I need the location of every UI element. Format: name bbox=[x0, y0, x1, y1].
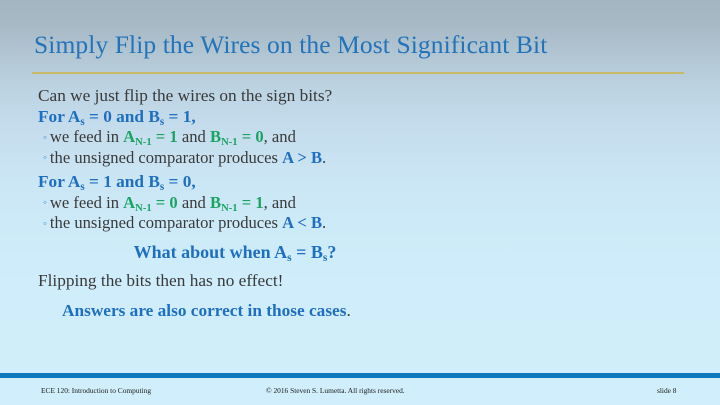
case2-b1-b: B bbox=[210, 193, 221, 212]
footer-slide-number: slide 8 bbox=[657, 386, 677, 395]
title-underline-rule bbox=[32, 72, 684, 74]
case2-bullet-1: ◦we feed in AN-1 = 0 and BN-1 = 1, and bbox=[0, 193, 720, 214]
question-mid: = B bbox=[292, 242, 323, 262]
footer-divider-bar bbox=[0, 373, 720, 378]
case1-b1-a-val: = 1 bbox=[152, 127, 178, 146]
case2-b2-tail: . bbox=[322, 213, 326, 232]
case1-b1-pre: we feed in bbox=[50, 127, 123, 146]
bullet-icon: ◦ bbox=[43, 132, 47, 144]
case2-b1-pre: we feed in bbox=[50, 193, 123, 212]
case2-head-end: = 0, bbox=[164, 172, 195, 191]
case1-b2-result: A > B bbox=[282, 148, 322, 167]
case1-b1-tail: , and bbox=[264, 127, 296, 146]
footer-course-label: ECE 120: Introduction to Computing bbox=[41, 386, 151, 395]
case2-b2-result: A < B bbox=[282, 213, 322, 232]
case1-head-end: = 1, bbox=[164, 107, 195, 126]
bullet-icon: ◦ bbox=[43, 197, 47, 209]
case1-head-for: For A bbox=[38, 107, 80, 126]
case1-b1-b-sub: N-1 bbox=[221, 137, 238, 148]
question-end: ? bbox=[327, 242, 336, 262]
case2-b2-pre: the unsigned comparator produces bbox=[50, 213, 282, 232]
footer-copyright-label: © 2016 Steven S. Lumetta. All rights res… bbox=[266, 386, 405, 395]
question-pre: What about when A bbox=[134, 242, 288, 262]
intro-line: Can we just flip the wires on the sign b… bbox=[0, 86, 720, 107]
case2-b1-a-val: = 0 bbox=[152, 193, 178, 212]
case2-b1-a: A bbox=[123, 193, 135, 212]
answer-text: Answers are also correct in those cases bbox=[62, 301, 346, 320]
answer-line: Answers are also correct in those cases. bbox=[0, 301, 720, 322]
case2-heading: For As = 1 and Bs = 0, bbox=[0, 172, 720, 193]
case1-bullet-2: ◦the unsigned comparator produces A > B. bbox=[0, 148, 720, 169]
case2-b1-b-sub: N-1 bbox=[221, 202, 238, 213]
case2-b1-tail: , and bbox=[264, 193, 296, 212]
bullet-icon: ◦ bbox=[43, 218, 47, 230]
case1-b1-and: and bbox=[178, 127, 210, 146]
case2-head-mid: = 1 and B bbox=[85, 172, 160, 191]
case1-bullet-1: ◦we feed in AN-1 = 1 and BN-1 = 0, and bbox=[0, 127, 720, 148]
question-line: What about when As = Bs? bbox=[0, 242, 470, 263]
page-title: Simply Flip the Wires on the Most Signif… bbox=[34, 30, 694, 60]
case1-b2-pre: the unsigned comparator produces bbox=[50, 148, 282, 167]
case1-b1-b-val: = 0 bbox=[238, 127, 264, 146]
case1-b2-tail: . bbox=[322, 148, 326, 167]
case2-b1-a-sub: N-1 bbox=[135, 202, 152, 213]
case2-b1-and: and bbox=[178, 193, 210, 212]
case1-heading: For As = 0 and Bs = 1, bbox=[0, 107, 720, 128]
case1-head-mid: = 0 and B bbox=[85, 107, 160, 126]
slide-footer: ECE 120: Introduction to Computing © 201… bbox=[0, 386, 720, 400]
bullet-icon: ◦ bbox=[43, 152, 47, 164]
case1-b1-b: B bbox=[210, 127, 221, 146]
case2-bullet-2: ◦the unsigned comparator produces A < B. bbox=[0, 213, 720, 234]
answer-period: . bbox=[346, 301, 350, 320]
case1-b1-a-sub: N-1 bbox=[135, 137, 152, 148]
slide-body: Can we just flip the wires on the sign b… bbox=[0, 86, 720, 321]
case1-b1-a: A bbox=[123, 127, 135, 146]
slide-canvas: Simply Flip the Wires on the Most Signif… bbox=[0, 0, 720, 405]
case2-b1-b-val: = 1 bbox=[238, 193, 264, 212]
flipping-line: Flipping the bits then has no effect! bbox=[0, 271, 720, 292]
case2-head-for: For A bbox=[38, 172, 80, 191]
